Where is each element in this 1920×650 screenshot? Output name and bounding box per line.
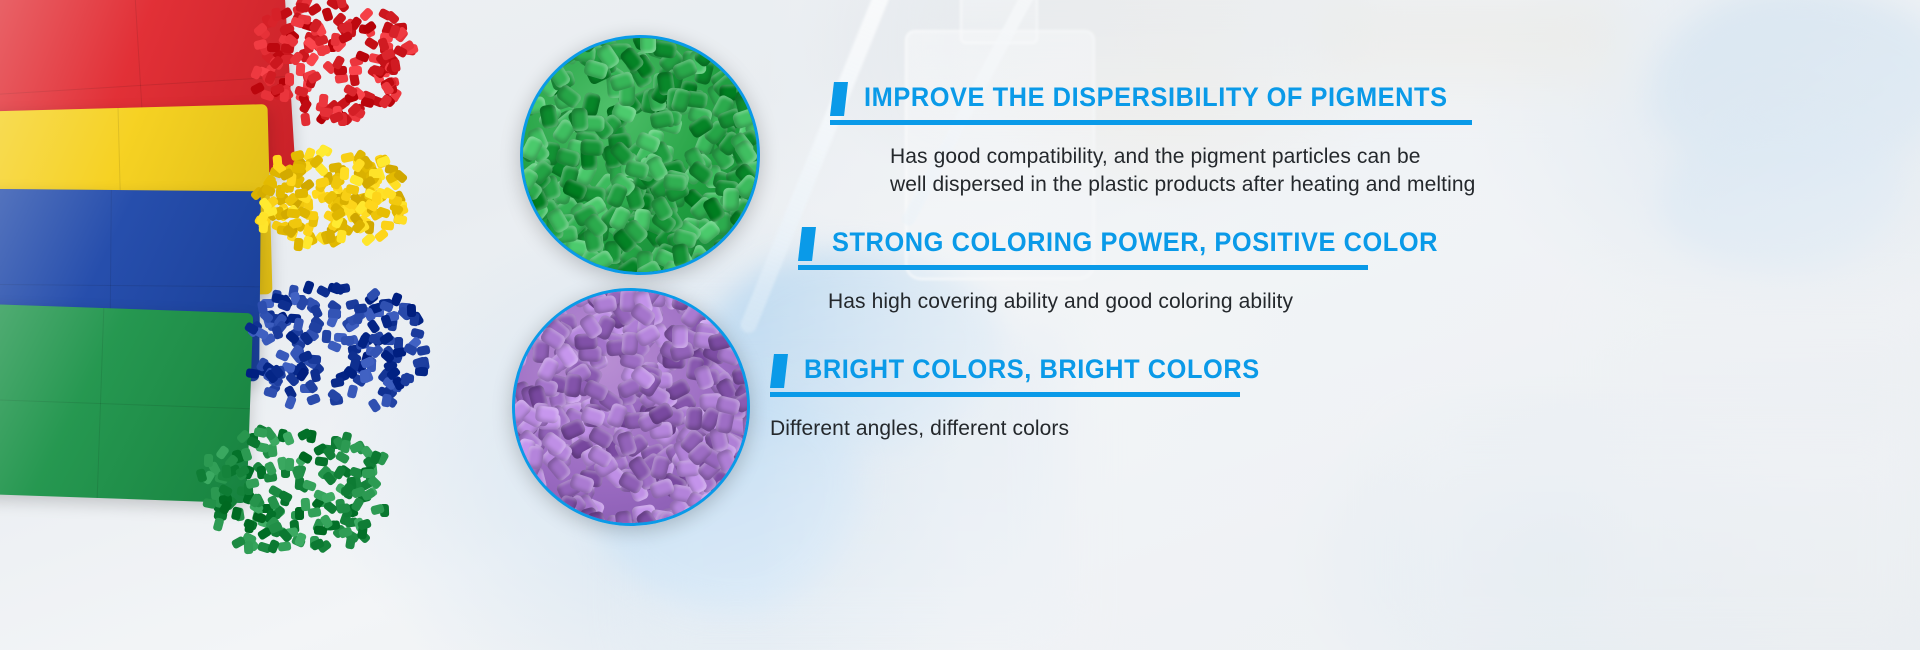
- pellet: [306, 393, 321, 406]
- pellet: [203, 498, 217, 509]
- plate-seam: [0, 398, 250, 409]
- feature-underline: [798, 265, 1368, 270]
- feature-underline: [830, 120, 1472, 125]
- pellet: [390, 58, 401, 72]
- pellet: [321, 7, 334, 22]
- feature-body: Different angles, different colors: [770, 415, 1470, 443]
- pellet: [364, 36, 380, 51]
- pellet: [325, 230, 336, 244]
- pellet: [257, 300, 268, 314]
- pellet: [360, 370, 370, 384]
- purple-pellet-circle: [512, 288, 750, 526]
- pellet: [222, 465, 232, 479]
- pellet: [535, 405, 560, 424]
- pellet: [340, 167, 350, 180]
- pellet: [373, 228, 389, 243]
- pellet: [212, 517, 224, 532]
- pellet: [294, 237, 304, 251]
- pellet: [336, 0, 348, 8]
- pellet: [285, 457, 295, 470]
- green-pellets: [200, 430, 390, 550]
- yellow-pellets: [255, 150, 405, 245]
- feature-title: BRIGHT COLORS, BRIGHT COLORS: [804, 352, 1430, 386]
- green-pellet-circle: [520, 35, 760, 275]
- pellet: [723, 188, 740, 212]
- feature-body-line: Different angles, different colors: [770, 415, 1470, 443]
- pellet: [663, 174, 687, 192]
- pellet: [318, 94, 328, 108]
- pellet: [526, 445, 545, 470]
- feature-heading: IMPROVE THE DISPERSIBILITY OF PIGMENTS: [830, 80, 1530, 114]
- pellet: [204, 454, 213, 467]
- pellet: [571, 108, 589, 132]
- pellet: [672, 325, 688, 348]
- feature-body-line: Has high covering ability and good color…: [828, 288, 1498, 316]
- pellet: [354, 303, 368, 313]
- pellet: [287, 208, 301, 218]
- pellet: [614, 510, 633, 526]
- blue-pellets: [250, 285, 425, 410]
- pellet: [406, 304, 415, 317]
- pellet: [300, 113, 311, 127]
- feature-item-bright-colors: BRIGHT COLORS, BRIGHT COLORS Different a…: [770, 352, 1470, 443]
- feature-body-line: Has good compatibility, and the pigment …: [890, 143, 1560, 171]
- pellet: [245, 477, 260, 489]
- pellet: [340, 439, 352, 454]
- pellet: [336, 230, 347, 244]
- pellet: [653, 40, 678, 59]
- pellet: [315, 177, 330, 189]
- pellet: [349, 66, 362, 76]
- pellet: [309, 303, 323, 319]
- pellet: [296, 2, 310, 13]
- pellet: [275, 349, 291, 363]
- pellet: [316, 45, 331, 57]
- feature-heading: BRIGHT COLORS, BRIGHT COLORS: [770, 352, 1470, 386]
- feature-item-dispersibility: IMPROVE THE DISPERSIBILITY OF PIGMENTS H…: [830, 80, 1530, 199]
- pellet: [686, 406, 704, 430]
- pellet: [278, 541, 292, 552]
- pellet: [282, 431, 295, 446]
- feature-list: IMPROVE THE DISPERSIBILITY OF PIGMENTS H…: [770, 0, 1920, 650]
- pellet: [273, 155, 283, 169]
- feature-body: Has high covering ability and good color…: [828, 288, 1498, 316]
- accent-mark-icon: [798, 227, 816, 261]
- red-pellets: [255, 0, 415, 120]
- pellet: [328, 309, 342, 319]
- pellet: [337, 503, 351, 514]
- feature-body-line: well dispersed in the plastic products a…: [890, 171, 1560, 199]
- pellet: [346, 384, 358, 399]
- pellet: [245, 368, 259, 379]
- plate-seam: [0, 76, 290, 95]
- pellet: [295, 188, 309, 198]
- pellet: [341, 336, 354, 346]
- accent-mark-icon: [770, 354, 788, 388]
- feature-item-coloring-power: STRONG COLORING POWER, POSITIVE COLOR Ha…: [798, 225, 1498, 316]
- promo-banner: IMPROVE THE DISPERSIBILITY OF PIGMENTS H…: [0, 0, 1920, 650]
- feature-title: STRONG COLORING POWER, POSITIVE COLOR: [832, 225, 1458, 259]
- feature-body: Has good compatibility, and the pigment …: [890, 143, 1560, 199]
- accent-mark-icon: [830, 82, 848, 116]
- pellet: [357, 519, 372, 532]
- pellet: [381, 393, 392, 407]
- pellet: [563, 373, 582, 398]
- plate-seam: [0, 284, 260, 288]
- plate-seam: [97, 308, 105, 498]
- pellet: [284, 395, 297, 410]
- pellet: [271, 7, 282, 21]
- feature-underline: [770, 392, 1240, 397]
- feature-title: IMPROVE THE DISPERSIBILITY OF PIGMENTS: [864, 80, 1490, 114]
- pellet: [267, 43, 280, 52]
- pellet: [640, 35, 656, 54]
- pellet: [331, 377, 345, 388]
- feature-heading: STRONG COLORING POWER, POSITIVE COLOR: [798, 225, 1498, 259]
- pellet: [580, 139, 604, 156]
- pellet: [307, 507, 321, 518]
- pellet: [345, 535, 356, 549]
